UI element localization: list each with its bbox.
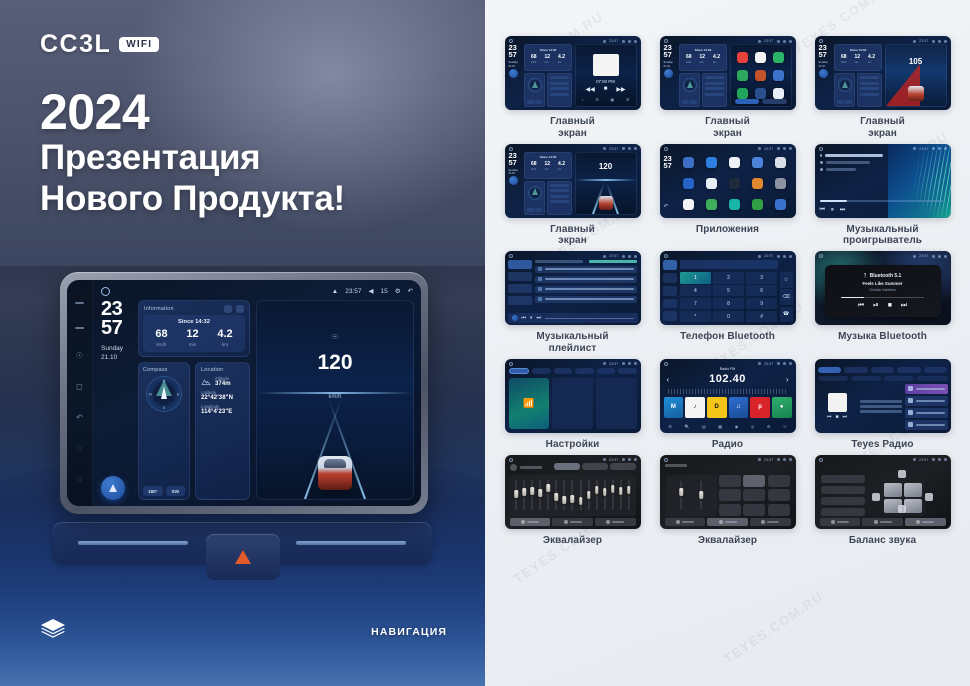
- volume-level: 15: [380, 288, 387, 295]
- preset-button[interactable]: [719, 504, 741, 516]
- track-title: [825, 154, 883, 157]
- eq-slider[interactable]: [585, 478, 592, 512]
- eq-slider[interactable]: [521, 478, 528, 512]
- tab-display[interactable]: [554, 368, 573, 374]
- balance-options[interactable]: [821, 475, 866, 516]
- tab-balance[interactable]: [750, 518, 791, 526]
- clock-minutes: 57: [509, 50, 517, 59]
- eq-slider[interactable]: [678, 479, 684, 511]
- app-icon[interactable]: [729, 157, 740, 168]
- navigation-arrow-icon[interactable]: [509, 176, 518, 185]
- thumbnail-cell[interactable]: 23:57 2357 Sunday21.10 Since 14:32 68km/…: [809, 36, 956, 140]
- preset-buttons[interactable]: [719, 475, 790, 516]
- app-icon[interactable]: [706, 157, 717, 168]
- thumbnail-label: Настройки: [546, 439, 600, 451]
- option-row[interactable]: [821, 475, 866, 483]
- layers-icon[interactable]: [40, 618, 66, 640]
- playlist-sidebar[interactable]: [508, 260, 532, 313]
- compass-title: Compass: [143, 367, 185, 373]
- compass-n: N: [163, 378, 166, 383]
- pause-icon[interactable]: ⏸: [530, 315, 533, 321]
- thumbnail-cell[interactable]: 23:57 2357 Sunday21.10 Since 14:32 68km/…: [654, 36, 801, 140]
- equalizer-tabs[interactable]: [665, 518, 791, 526]
- clock-minutes: 57: [664, 50, 672, 59]
- settings-tabs[interactable]: [509, 368, 637, 374]
- app-icon[interactable]: [773, 52, 784, 63]
- list-item[interactable]: [535, 266, 637, 274]
- app-icon[interactable]: [755, 70, 766, 81]
- eq-slider[interactable]: [617, 478, 624, 512]
- tab-eq[interactable]: [820, 518, 861, 526]
- screenshot-thumbnail[interactable]: 23:57: [660, 455, 796, 529]
- play-pause-icon[interactable]: ⏯: [873, 302, 879, 310]
- media-widget[interactable]: 07:50 PM ◀◀■▶▶ ♪☰▣⚙: [575, 44, 637, 107]
- thumbnail-label: Главный экран: [705, 116, 750, 140]
- stat-time: 12 min: [186, 329, 198, 347]
- more-card[interactable]: [596, 378, 637, 429]
- preset-station[interactable]: D: [707, 397, 727, 418]
- frequency-scale[interactable]: [668, 389, 788, 394]
- dialpad-key[interactable]: 3: [746, 272, 778, 283]
- screenshot-thumbnail[interactable]: 23:57 ⏮ ⏸ ⏭: [815, 144, 951, 218]
- dialpad-key[interactable]: 0: [713, 311, 745, 322]
- information-card[interactable]: Information Since 14:32: [138, 300, 250, 357]
- eq-slider[interactable]: [537, 478, 544, 512]
- radio-frequency: 102.40: [660, 373, 796, 385]
- navigation-arrow-icon[interactable]: [819, 69, 828, 78]
- rds-icon[interactable]: ◉: [735, 424, 739, 429]
- eq-slider[interactable]: [609, 478, 616, 512]
- preset-button[interactable]: [582, 463, 608, 470]
- list-item[interactable]: [905, 408, 948, 418]
- home-icon: [664, 254, 668, 258]
- tab-sound[interactable]: [532, 368, 551, 374]
- prev-icon[interactable]: ⏮: [820, 207, 825, 214]
- next-icon[interactable]: ⏭: [843, 414, 848, 420]
- thumbnail-cell[interactable]: 23:57: [654, 455, 801, 547]
- app-icon[interactable]: [706, 199, 717, 210]
- compass-s: S: [163, 405, 166, 410]
- tab-update[interactable]: [618, 368, 637, 374]
- dialpad-key[interactable]: 2: [713, 272, 745, 283]
- mountain-icon: [201, 378, 211, 386]
- compass-dial: N S W E: [146, 376, 182, 412]
- thumbnail-cell[interactable]: ⏮ ■ ⏭ Teyes Радио: [809, 359, 956, 451]
- dialpad-key[interactable]: 4: [680, 285, 712, 296]
- head-unit-home-grid: 23 57 Sunday 21.10 Information: [101, 286, 414, 500]
- music-visualizer: [888, 144, 951, 218]
- back-icon[interactable]: ↶: [408, 287, 413, 295]
- screenshot-thumbnail[interactable]: 23:57 ⏮ ⏸ ⏭: [505, 251, 641, 325]
- headline-year: 2024: [40, 86, 345, 138]
- back-icon[interactable]: ↶: [664, 203, 669, 210]
- prev-icon[interactable]: ⏮: [522, 315, 527, 321]
- app-icon[interactable]: [775, 199, 786, 210]
- app-shortcuts-widget[interactable]: [730, 44, 792, 107]
- app-drawer-grid[interactable]: [678, 153, 791, 214]
- dialpad-key[interactable]: 1: [680, 272, 712, 283]
- home-icon: [509, 39, 513, 43]
- stop-icon[interactable]: ■: [604, 86, 608, 93]
- head-unit-screen[interactable]: ☉ ◻ ↶ ◌ ◌ ▲ 23:57 ◀ 15: [67, 280, 421, 506]
- stat-time-unit: min: [186, 342, 198, 347]
- wifi-badge-icon: WIFI: [119, 37, 159, 52]
- status-time: 23:57: [764, 362, 774, 366]
- station-presets[interactable]: M ♪ D ♫ p ●: [664, 397, 792, 418]
- dialpad-key[interactable]: *: [680, 311, 712, 322]
- radio-band: Radio FM: [660, 367, 796, 371]
- left-hero-panel: CC3L WIFI 2024 Презентация Нового Продук…: [0, 0, 485, 686]
- navigation-arrow-icon[interactable]: [101, 476, 125, 500]
- eq-slider[interactable]: [569, 478, 576, 512]
- next-icon[interactable]: ▶▶: [616, 86, 625, 93]
- app-icon[interactable]: [706, 178, 717, 189]
- screenshot-thumbnail[interactable]: 23:57: [815, 455, 951, 529]
- preset-station[interactable]: ●: [772, 397, 792, 418]
- eq-slider[interactable]: [593, 478, 600, 512]
- screenshot-thumbnail[interactable]: 23:57 ᛏ Bluetooth 5.1 Feels Like Summer …: [815, 251, 951, 325]
- stat-speed-unit: km/h: [155, 342, 167, 347]
- preset-button[interactable]: [743, 475, 765, 487]
- app-icon[interactable]: [752, 178, 763, 189]
- thumbnail-label: Радио: [712, 439, 743, 451]
- preset-button[interactable]: [719, 475, 741, 487]
- dialpad-actions[interactable]: ☆ ⌫ ☎: [780, 272, 793, 322]
- gear-icon[interactable]: ⚙: [767, 424, 771, 429]
- app-icon[interactable]: [737, 88, 748, 99]
- app-icon[interactable]: [729, 199, 740, 210]
- app-icon[interactable]: [683, 199, 694, 210]
- radio-toolbar[interactable]: ☰🔍 ▤▩ ◉◎ ⚙☉: [664, 423, 792, 430]
- thumbnail-label: Главный экран: [550, 224, 595, 248]
- prev-icon[interactable]: ⏮: [858, 302, 864, 310]
- preset-button[interactable]: [610, 463, 636, 470]
- home-icon[interactable]: [101, 287, 110, 296]
- screenshot-thumbnail[interactable]: ⏮ ■ ⏭: [815, 359, 951, 433]
- equalizer-tabs[interactable]: [820, 518, 946, 526]
- home-icon: [509, 362, 513, 366]
- location-title: Location: [201, 367, 244, 373]
- status-time: 23:57: [919, 254, 929, 258]
- altitude-value: 374m: [215, 381, 231, 387]
- app-icon[interactable]: [683, 178, 694, 189]
- stat-distance-value: 4.2: [217, 329, 232, 340]
- station-meta: [860, 384, 903, 430]
- status-time: 23:57: [919, 458, 929, 462]
- eq-slider[interactable]: [553, 478, 560, 512]
- back-icon[interactable]: ↶: [76, 414, 83, 422]
- status-time: 23:57: [609, 39, 619, 43]
- speaker-fr[interactable]: [904, 483, 922, 497]
- status-time: 23:57: [764, 254, 774, 258]
- eq-slider[interactable]: [545, 478, 552, 512]
- dialpad-key[interactable]: 9: [746, 298, 778, 309]
- stat-speed: 68 km/h: [155, 329, 167, 347]
- status-time: 23:57: [609, 147, 619, 151]
- thumbnail-cell[interactable]: 23:57 ᛏ Bluetooth 5.1 Feels Like Summer …: [809, 251, 956, 355]
- thumbnail-cell[interactable]: 23:57 2357 Sunday21.10 Since 14:32 68km/…: [499, 36, 646, 140]
- eq-slider[interactable]: [601, 478, 608, 512]
- stop-icon[interactable]: ■: [835, 414, 838, 420]
- arrow-right-icon[interactable]: [925, 493, 933, 501]
- thumbnail-cell[interactable]: 23:57: [499, 455, 646, 547]
- track-list[interactable]: [535, 260, 637, 312]
- app-icon[interactable]: [775, 178, 786, 189]
- thumbnail-cell[interactable]: 23:57 📶 Настройки: [499, 359, 646, 451]
- power-icon[interactable]: ☉: [783, 424, 787, 429]
- eq-slider[interactable]: [577, 478, 584, 512]
- home-icon: [819, 39, 823, 43]
- power-icon[interactable]: ☉: [76, 352, 83, 360]
- dialpad-key[interactable]: 8: [713, 298, 745, 309]
- eq-slider[interactable]: [529, 478, 536, 512]
- screenshot-thumbnail[interactable]: 23:57 2357 Sunday21.10 Since 14:32 68km/…: [815, 36, 951, 110]
- slide-root: CC3L WIFI 2024 Презентация Нового Продук…: [0, 0, 970, 686]
- station-list[interactable]: [905, 384, 948, 430]
- thumbnail-cell[interactable]: 23:57 Radio FM ‹ › 102.40 M ♪ D ♫ p ●: [654, 359, 801, 451]
- equalizer-header: [510, 464, 542, 471]
- screenshot-thumbnail[interactable]: 23:57 2357 Sunday21.10 Since 14:32 68km/…: [505, 144, 641, 218]
- clock-minutes: 57: [101, 319, 132, 338]
- option-row[interactable]: [821, 508, 866, 516]
- clock-minutes: 57: [664, 161, 672, 170]
- thumbnail-cell[interactable]: 23:57 2357 Sunday21.10 Since 14:32 68km/…: [499, 144, 646, 248]
- screenshot-thumbnail[interactable]: 23:57 1 2 3 4 5 6 7 8 9 * 0: [660, 251, 796, 325]
- screenshot-thumbnail[interactable]: 23:57 2357 Sunday21.10 Since 14:32 68km/…: [505, 36, 641, 110]
- thumbnail-cell[interactable]: 23:57 1 2 3 4 5 6 7 8 9 * 0: [654, 251, 801, 355]
- app-icon[interactable]: [752, 157, 763, 168]
- preset-station[interactable]: M: [664, 397, 684, 418]
- list-item[interactable]: [905, 384, 948, 394]
- equalizer-header: [665, 464, 687, 467]
- thumbnail-label: Главный экран: [860, 116, 905, 140]
- hazard-button[interactable]: [206, 534, 280, 580]
- speed-unit: km/h: [328, 394, 341, 400]
- band-icon[interactable]: ☰: [668, 424, 672, 429]
- status-time: 23:57: [764, 458, 774, 462]
- home-icon: [664, 147, 668, 151]
- latitude-value: 22°42'38"N: [201, 395, 244, 401]
- speed-road-widget[interactable]: 120: [575, 152, 637, 215]
- list-item[interactable]: [535, 286, 637, 294]
- backspace-icon[interactable]: ⌫: [780, 289, 793, 305]
- prev-icon[interactable]: ◀◀: [585, 86, 594, 93]
- list-item[interactable]: [535, 296, 637, 304]
- tab-fader[interactable]: [552, 518, 593, 526]
- app-icon[interactable]: [683, 157, 694, 168]
- teyes-radio-subtabs[interactable]: [818, 376, 948, 381]
- screenshot-thumbnail[interactable]: 23:57: [505, 455, 641, 529]
- app-icon[interactable]: [737, 52, 748, 63]
- tab-system[interactable]: [575, 368, 594, 374]
- equalizer-tabs[interactable]: [510, 518, 636, 526]
- tab-balance[interactable]: [595, 518, 636, 526]
- option-row[interactable]: [821, 486, 866, 494]
- speaker-rr[interactable]: [904, 499, 922, 513]
- list-icon[interactable]: ▤: [702, 424, 706, 429]
- dialpad-key[interactable]: #: [746, 311, 778, 322]
- next-icon[interactable]: ⏭: [537, 315, 542, 321]
- navigation-arrow-icon[interactable]: [509, 69, 518, 78]
- loc-icon[interactable]: ◎: [751, 424, 755, 429]
- settings-cards[interactable]: 📶: [509, 378, 637, 429]
- navigation-arrow-icon[interactable]: [664, 69, 673, 78]
- dialed-number-field[interactable]: [680, 260, 778, 269]
- preset-button[interactable]: [768, 489, 790, 501]
- menu-icon[interactable]: [75, 302, 84, 304]
- screenshot-thumbnail[interactable]: 23:57 2357 ↶: [660, 144, 796, 218]
- preset-station[interactable]: ♫: [729, 397, 749, 418]
- next-icon[interactable]: ⏭: [840, 207, 845, 214]
- volume-down-icon[interactable]: ◌: [77, 445, 82, 453]
- thumbnail-cell[interactable]: 23:57 2357 ↶: [654, 144, 801, 248]
- eq-slider[interactable]: [513, 478, 520, 512]
- tab-about[interactable]: [597, 368, 616, 374]
- playback-controls[interactable]: ⏮ ⏯ ■ ⏭: [858, 302, 907, 310]
- app-icon[interactable]: [755, 88, 766, 99]
- car-dashboard-photo: ☉ ◻ ↶ ◌ ◌ ▲ 23:57 ◀ 15: [0, 266, 485, 686]
- preset-button[interactable]: [768, 475, 790, 487]
- location-card[interactable]: Location Altitude 374m: [195, 362, 250, 500]
- eq-slider[interactable]: [698, 479, 704, 511]
- dialpad-key[interactable]: 5: [713, 285, 745, 296]
- tab-eq[interactable]: [510, 518, 551, 526]
- teyes-radio-tabs[interactable]: [818, 367, 948, 373]
- head-unit-status-bar: ▲ 23:57 ◀ 15 ⚙ ↶: [101, 285, 413, 297]
- preset-button[interactable]: [768, 504, 790, 516]
- screenshot-thumbnail[interactable]: 23:57 📶: [505, 359, 641, 433]
- playback-controls[interactable]: ⏮ ⏸ ⏭: [820, 207, 846, 214]
- progress-bar[interactable]: [841, 297, 925, 298]
- eq-slider[interactable]: [625, 478, 632, 512]
- screenshot-thumbnail[interactable]: 23:57 Radio FM ‹ › 102.40 M ♪ D ♫ p ●: [660, 359, 796, 433]
- screenshot-thumbnail[interactable]: 23:57 2357 Sunday21.10 Since 14:32 68km/…: [660, 36, 796, 110]
- progress-bar[interactable]: [820, 200, 943, 202]
- arrow-down-icon[interactable]: [898, 505, 906, 513]
- app-icon[interactable]: [729, 178, 740, 189]
- speed-road-panel[interactable]: ☉ 120 km/h: [256, 300, 414, 500]
- arrow-left-icon[interactable]: [872, 493, 880, 501]
- head-unit-body: ▲ 23:57 ◀ 15 ⚙ ↶ 23 57: [93, 280, 421, 506]
- dialpad[interactable]: 1 2 3 4 5 6 7 8 9 * 0 #: [680, 272, 778, 322]
- eject-icon[interactable]: [75, 327, 84, 329]
- clock-minutes: 57: [819, 50, 827, 59]
- status-time: 23:57: [609, 362, 619, 366]
- volume-up-icon[interactable]: ◌: [77, 476, 82, 484]
- clock-column: 23 57 Sunday 21.10: [101, 300, 132, 500]
- equalizer-presets[interactable]: [554, 463, 636, 470]
- app-icon[interactable]: [775, 157, 786, 168]
- app-icon[interactable]: [773, 70, 784, 81]
- preset-button[interactable]: [743, 504, 765, 516]
- thumbnail-cell[interactable]: 23:57 ⏮ ⏸ ⏭ Музыкальный проигрыватель: [809, 144, 956, 248]
- search-icon[interactable]: 🔍: [684, 424, 689, 429]
- tab-fader[interactable]: [707, 518, 748, 526]
- eq-icon[interactable]: ▩: [718, 424, 722, 429]
- carplay-card[interactable]: [552, 378, 593, 429]
- home-icon: [664, 362, 668, 366]
- tab-wifi[interactable]: [509, 368, 530, 374]
- app-icon[interactable]: [737, 70, 748, 81]
- clock-date: 21.10: [101, 354, 132, 363]
- phone-sidebar[interactable]: [663, 260, 677, 321]
- preset-station[interactable]: p: [750, 397, 770, 418]
- list-item[interactable]: [905, 420, 948, 430]
- compass-e: E: [177, 392, 180, 397]
- list-item[interactable]: [535, 276, 637, 284]
- status-time: 23:57: [919, 147, 929, 151]
- tab-eq[interactable]: [665, 518, 706, 526]
- tab-fader[interactable]: [862, 518, 903, 526]
- home-icon: [819, 458, 823, 462]
- status-time: 23:57: [764, 39, 774, 43]
- next-icon[interactable]: ⏭: [901, 302, 907, 310]
- speaker-fl[interactable]: [884, 483, 902, 497]
- eq-slider[interactable]: [561, 478, 568, 512]
- stat-time-value: 12: [186, 329, 198, 340]
- right-gallery-panel: TEYES.COM.RU TEYES.COM.RU TEYES.COM.RU T…: [485, 0, 970, 686]
- stat-speed-value: 68: [155, 329, 167, 340]
- option-row[interactable]: [821, 497, 866, 505]
- app-icon[interactable]: [755, 52, 766, 63]
- call-icon[interactable]: ☎: [780, 307, 793, 323]
- equalizer-bands[interactable]: [510, 475, 636, 516]
- speed-value: 105: [886, 57, 946, 66]
- preset-button[interactable]: [719, 489, 741, 501]
- thumbnail-label: Teyes Радио: [851, 439, 913, 451]
- speedometer-icon: ☉: [332, 333, 338, 341]
- thumbnail-cell[interactable]: 23:57 ⏮ ⏸ ⏭: [499, 251, 646, 355]
- fader-sliders[interactable]: [666, 475, 718, 516]
- settings-icon[interactable]: [224, 305, 232, 313]
- preset-button[interactable]: [554, 463, 580, 470]
- brand-logo: CC3L WIFI: [40, 30, 159, 59]
- stop-icon[interactable]: ■: [888, 302, 892, 309]
- home-icon: [509, 254, 513, 258]
- list-item[interactable]: [905, 396, 948, 406]
- tab-balance[interactable]: [905, 518, 946, 526]
- headline-line-2: Нового Продукта!: [40, 179, 345, 220]
- speed-widget[interactable]: 105: [885, 44, 947, 107]
- thumbnail-label: Эквалайзер: [698, 535, 757, 547]
- thumbnail-label: Музыкальный плейлист: [536, 331, 608, 355]
- status-time: 23:57: [609, 458, 619, 462]
- dialpad-key[interactable]: 6: [746, 285, 778, 296]
- thumbnail-cell[interactable]: 23:57 Баланс звука: [809, 455, 956, 547]
- preset-station[interactable]: ♪: [685, 397, 705, 418]
- app-icon[interactable]: [752, 199, 763, 210]
- refresh-icon[interactable]: [236, 305, 244, 313]
- volume-icon: ◀: [368, 287, 373, 295]
- arrow-up-icon[interactable]: [898, 470, 906, 478]
- wifi-card[interactable]: 📶: [509, 378, 550, 429]
- bluetooth-player-card[interactable]: ᛏ Bluetooth 5.1 Feels Like Summer Childi…: [825, 265, 941, 317]
- stat-distance-unit: km: [217, 342, 232, 347]
- status-time: 23:57: [764, 147, 774, 151]
- pause-icon[interactable]: ⏸: [831, 207, 834, 214]
- dialpad-key[interactable]: 7: [680, 298, 712, 309]
- preset-button[interactable]: [743, 489, 765, 501]
- now-playing-bar[interactable]: ⏮ ⏸ ⏭: [508, 313, 638, 323]
- star-icon[interactable]: ☆: [780, 272, 793, 288]
- head-unit-side-rail: ☉ ◻ ↶ ◌ ◌: [67, 280, 93, 506]
- app-icon[interactable]: [773, 88, 784, 99]
- gear-icon[interactable]: ⚙: [395, 287, 401, 295]
- watermark: TEYES.COM.RU: [721, 589, 826, 667]
- home-icon[interactable]: ◻: [76, 383, 83, 391]
- compass-card[interactable]: Compass N S W E: [138, 362, 190, 500]
- prev-icon[interactable]: ⏮: [827, 414, 832, 420]
